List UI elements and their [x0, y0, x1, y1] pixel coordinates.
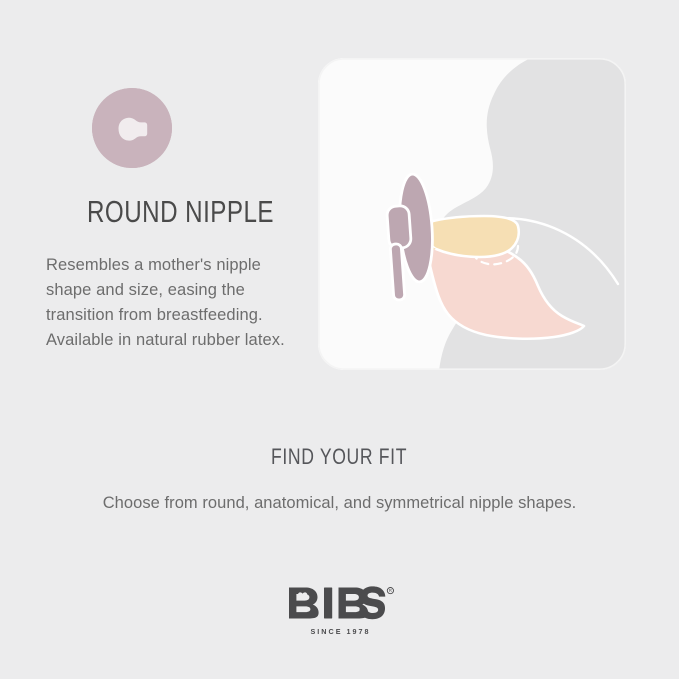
product-feature-page: ROUND NIPPLE Resembles a mother's nipple…	[0, 0, 679, 679]
round-nipple-feature-block: ROUND NIPPLE Resembles a mother's nipple…	[46, 88, 296, 305]
svg-text:R: R	[388, 588, 391, 593]
round-nipple-icon-container	[46, 88, 296, 174]
feature-description: Resembles a mother's nipple shape and si…	[46, 253, 296, 353]
feature-title: ROUND NIPPLE	[87, 196, 282, 227]
find-your-fit-heading: FIND YOUR FIT	[0, 446, 679, 468]
bibs-wordmark: R	[286, 586, 394, 625]
pacifier-anatomy-illustration-card	[318, 58, 626, 370]
round-nipple-icon	[92, 88, 172, 168]
brand-logo: R SINCE 1978	[0, 586, 679, 635]
brand-tagline: SINCE 1978	[309, 628, 371, 635]
find-your-fit-heading-text: FIND YOUR FIT	[271, 446, 407, 468]
find-your-fit-subtext: Choose from round, anatomical, and symme…	[0, 492, 679, 515]
